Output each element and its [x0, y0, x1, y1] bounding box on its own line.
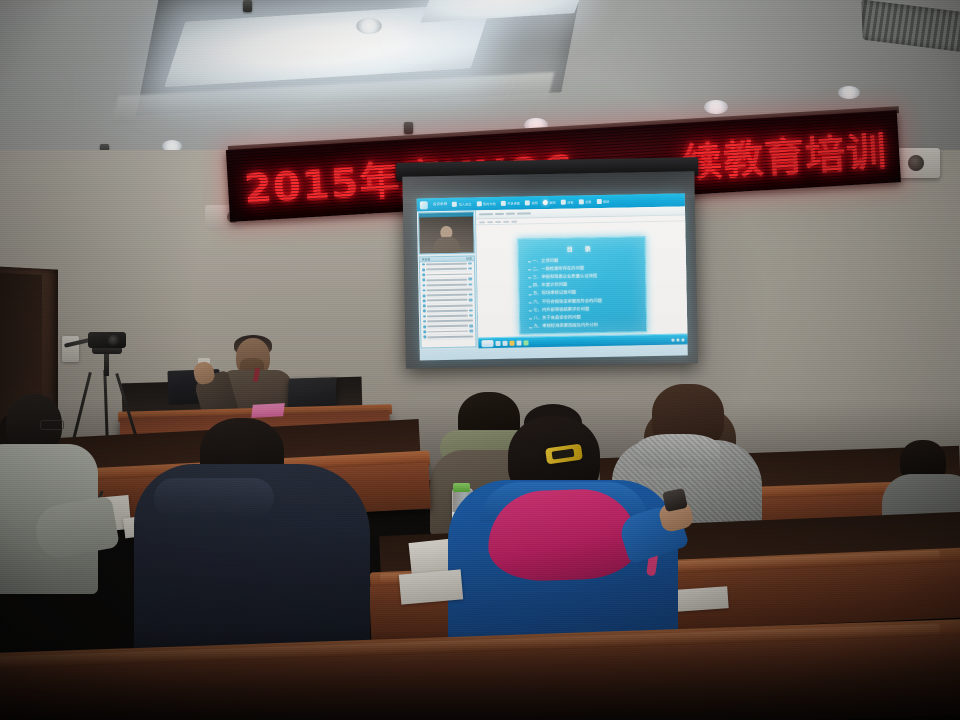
- participant-name: [427, 309, 467, 312]
- tripod-column: [104, 352, 109, 376]
- hvac-vent-icon: [861, 0, 960, 53]
- participant-header-right: 状态: [466, 256, 472, 260]
- participant-status-icon: [422, 284, 425, 287]
- toolbar-label: 共享桌面: [507, 201, 520, 206]
- sprinkler-icon: [243, 0, 252, 12]
- participant-list[interactable]: [419, 261, 477, 348]
- floor-shadow: [0, 630, 960, 720]
- downlight-icon: [356, 18, 382, 34]
- toolbar-label: 设置: [585, 199, 591, 204]
- toolbar-label: 帮助: [603, 199, 609, 204]
- eyeglasses-icon: [40, 420, 64, 430]
- webcam-person-body: [433, 237, 459, 253]
- doc-sub-chip: [503, 220, 509, 222]
- slide-contents-list: 一、立项问题二、一般检查所存在的问题三、申报和隐患企业质量认证流程四、年度计划问…: [524, 256, 639, 332]
- toolbar-item-join[interactable]: 加入会议: [452, 201, 471, 206]
- participant-status-icon: [423, 325, 426, 328]
- participant-role-tag: [469, 299, 473, 301]
- slide-title: 目 录: [524, 243, 638, 254]
- tray-icon[interactable]: [671, 338, 674, 341]
- participant-status-icon: [422, 279, 425, 282]
- participant-status-icon: [423, 299, 426, 302]
- folder-icon[interactable]: [502, 340, 507, 345]
- presentation-slide: 目 录 一、立项问题二、一般检查所存在的问题三、申报和隐患企业质量认证流程四、年…: [517, 236, 647, 334]
- participant-status-icon: [422, 289, 425, 292]
- toolbar-item-share[interactable]: 共享桌面: [501, 201, 520, 206]
- toolbar-item-documents[interactable]: 我的文档: [476, 201, 495, 206]
- participant-name: [427, 330, 467, 333]
- record-icon: [543, 200, 548, 205]
- hood-lining: [486, 487, 639, 582]
- toolbar-item-video[interactable]: 视频: [525, 200, 538, 205]
- participant-name: [426, 273, 472, 276]
- speaker-cone-icon: [908, 155, 924, 171]
- participant-name: [427, 320, 473, 323]
- projected-desktop: 会议系统 加入会议 我的文档 共享桌面 视频: [417, 193, 688, 360]
- join-icon: [452, 202, 457, 207]
- share-icon: [501, 201, 506, 206]
- participant-role-tag: [468, 262, 472, 264]
- doc-toolbar-chip: [517, 212, 531, 215]
- webcam-video-tile[interactable]: [418, 211, 475, 254]
- participant-role-tag: [469, 309, 473, 311]
- start-button[interactable]: [481, 340, 493, 347]
- participant-header-left: 参会者: [422, 257, 430, 261]
- app-brand-label: 会议系统: [433, 202, 447, 207]
- camera-lens-icon: [108, 335, 120, 346]
- word-icon[interactable]: [516, 340, 521, 345]
- suit-shoulder-highlight: [154, 478, 274, 518]
- participant-role-tag: [469, 325, 473, 327]
- projection-screen: 会议系统 加入会议 我的文档 共享桌面 视频: [396, 157, 702, 371]
- toolbar-item-whiteboard[interactable]: 白板: [561, 200, 574, 205]
- notebook-paper: [399, 569, 463, 604]
- participant-status-icon: [423, 331, 426, 334]
- participant-role-tag: [468, 268, 472, 270]
- downlight-icon: [838, 86, 860, 99]
- taskbar-spacer: [531, 340, 670, 343]
- sprinkler-icon: [404, 122, 413, 134]
- doc-sub-chip: [487, 221, 493, 223]
- mail-icon[interactable]: [523, 340, 528, 345]
- doc-toolbar-chip: [506, 212, 515, 215]
- participant-status-icon: [423, 310, 426, 313]
- audience-member-grey-coat: [0, 394, 120, 604]
- participant-role-tag: [469, 293, 473, 295]
- participant-name: [427, 294, 467, 297]
- app-main-pane: 目 录 一、立项问题二、一般检查所存在的问题三、申报和隐患企业质量认证流程四、年…: [476, 206, 688, 348]
- toolbar-item-record[interactable]: 录制: [543, 200, 556, 205]
- toolbar-label: 加入会议: [459, 201, 472, 206]
- participant-name: [427, 304, 473, 307]
- app-body: 参会者 状态: [417, 206, 688, 349]
- participant-status-icon: [423, 336, 426, 339]
- gear-icon: [579, 199, 584, 204]
- participant-name: [426, 263, 466, 266]
- help-icon: [596, 199, 601, 204]
- toolbar-label: 录制: [549, 200, 555, 205]
- webcam-titlebar: [419, 212, 473, 217]
- tray-icon[interactable]: [676, 338, 679, 341]
- participant-name: [427, 335, 473, 338]
- doc-sub-chip: [511, 220, 517, 222]
- video-camera: [88, 332, 126, 348]
- toolbar-item-settings[interactable]: 设置: [579, 199, 592, 204]
- participant-status-icon: [423, 294, 426, 297]
- participant-status-icon: [423, 315, 426, 318]
- led-banner-text-right: 续教育培训: [681, 119, 889, 189]
- folder-icon: [476, 201, 481, 206]
- participant-role-tag: [468, 278, 472, 280]
- downlight-icon: [704, 100, 728, 114]
- ie-icon[interactable]: [495, 340, 500, 345]
- tray-icon[interactable]: [681, 338, 684, 341]
- participant-status-icon: [422, 263, 425, 266]
- projection-screen-surface: 会议系统 加入会议 我的文档 共享桌面 视频: [402, 171, 698, 369]
- toolbar-item-help[interactable]: 帮助: [596, 199, 609, 204]
- participant-name: [426, 278, 466, 281]
- app-logo-icon: [420, 201, 428, 209]
- pink-document: [251, 403, 285, 418]
- participant-role-tag: [469, 330, 473, 332]
- board-icon: [561, 200, 566, 205]
- participant-row[interactable]: [421, 334, 475, 340]
- slide-stage: 目 录 一、立项问题二、一般检查所存在的问题三、申报和隐患企业质量认证流程四、年…: [476, 221, 687, 348]
- doc-sub-chip: [479, 221, 485, 223]
- participant-role-tag: [469, 314, 473, 316]
- toolbar-label: 我的文档: [483, 201, 496, 206]
- participant-name: [427, 299, 467, 302]
- participant-role-tag: [468, 283, 472, 285]
- doc-toolbar-chip: [479, 213, 493, 216]
- doc-sub-chip: [495, 220, 501, 222]
- participant-status-icon: [422, 274, 425, 277]
- app-sidebar: 参会者 状态: [417, 210, 479, 349]
- participant-status-icon: [422, 268, 425, 271]
- camera-icon: [525, 200, 530, 205]
- slide-list-item: 九、审核标准变更改版及内外分析: [534, 321, 640, 331]
- toolbar-label: 视频: [531, 200, 537, 205]
- participant-name: [426, 283, 466, 286]
- participant-status-icon: [423, 320, 426, 323]
- media-icon[interactable]: [509, 340, 514, 345]
- participant-name: [427, 289, 473, 292]
- participant-name: [427, 315, 467, 318]
- toolbar-label: 白板: [567, 200, 573, 205]
- participant-status-icon: [423, 305, 426, 308]
- participant-name: [426, 268, 466, 271]
- participant-name: [427, 325, 467, 328]
- conference-room-photo: 2015年度HXQC 续教育培训 会议系统 加入会议 我的文档: [0, 0, 960, 720]
- doc-toolbar-chip: [495, 213, 504, 216]
